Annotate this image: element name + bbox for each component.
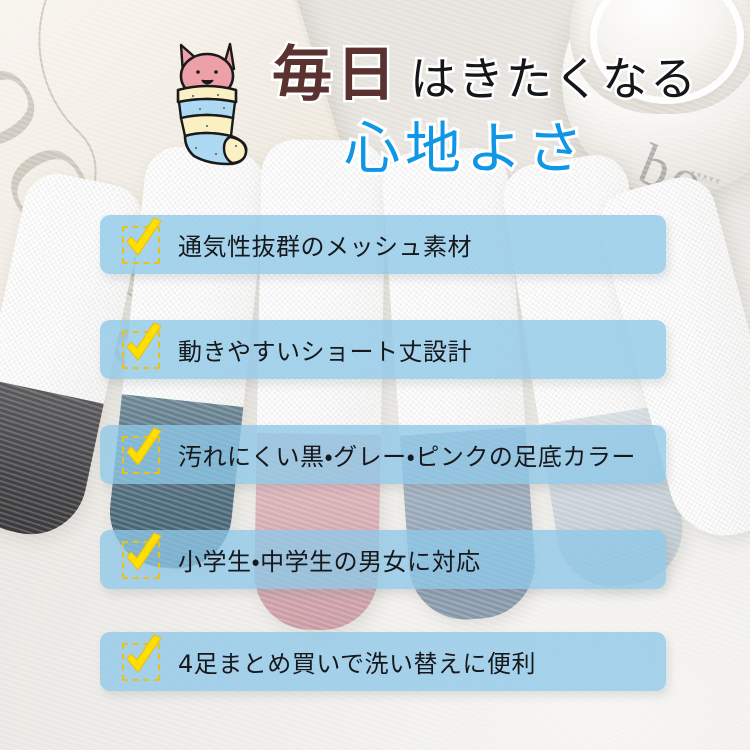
promo-banner: VOGUE bo xxxxx [0, 0, 750, 750]
feature-label: 汚れにくい黒・グレー・ピンクの足底カラー [178, 437, 636, 472]
feature-label: 通気性抜群のメッシュ素材 [178, 227, 472, 262]
feature-list: 通気性抜群のメッシュ素材 動きやすいショート丈設計 汚れにくい黒・グレー・ピンク… [0, 0, 750, 750]
feature-bar[interactable]: 通気性抜群のメッシュ素材 [100, 215, 666, 274]
check-icon [122, 541, 160, 579]
check-icon [122, 436, 160, 474]
check-icon [122, 643, 160, 681]
feature-bar[interactable]: 小学生・中学生の男女に対応 [100, 530, 666, 589]
feature-bar[interactable]: 汚れにくい黒・グレー・ピンクの足底カラー [100, 425, 666, 484]
feature-label: 小学生・中学生の男女に対応 [178, 542, 481, 577]
feature-bar[interactable]: 動きやすいショート丈設計 [100, 320, 666, 379]
feature-label: 4足まとめ買いで洗い替えに便利 [178, 644, 536, 679]
check-icon [122, 331, 160, 369]
feature-bar[interactable]: 4足まとめ買いで洗い替えに便利 [100, 632, 666, 691]
check-icon [122, 226, 160, 264]
feature-label: 動きやすいショート丈設計 [178, 332, 472, 367]
